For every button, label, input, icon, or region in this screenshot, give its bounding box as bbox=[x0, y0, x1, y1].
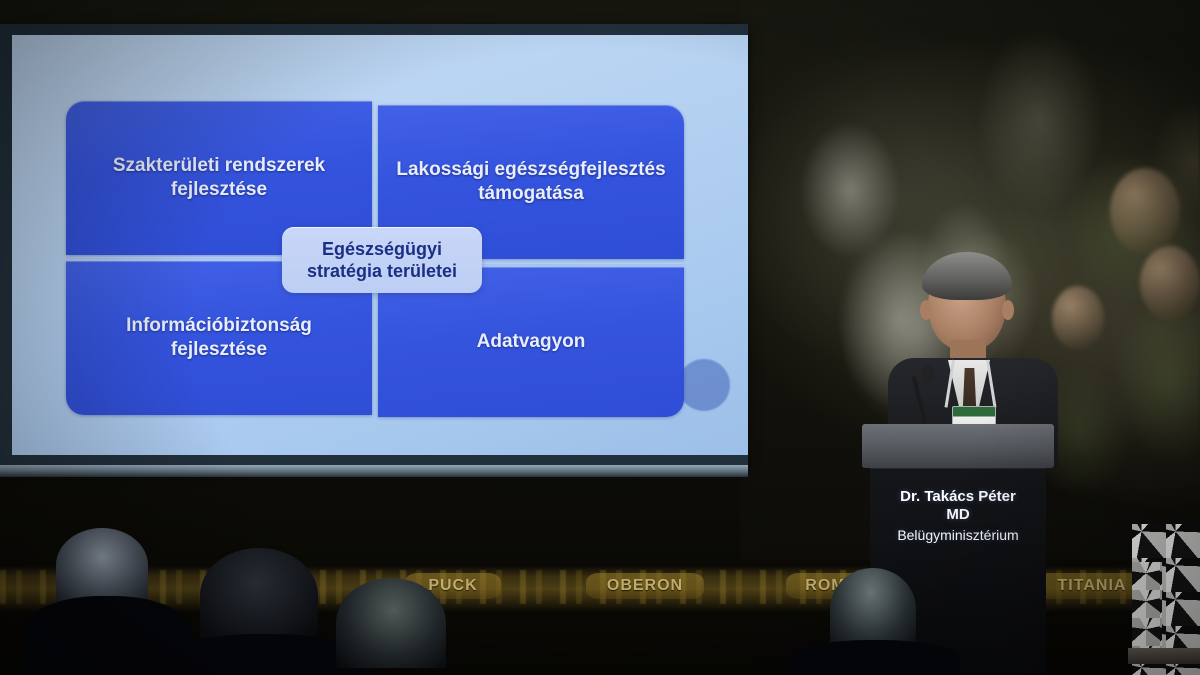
frieze-name-oberon: OBERON bbox=[586, 573, 704, 599]
center-label-line2: stratégia területei bbox=[307, 261, 457, 281]
audience-shoulders bbox=[790, 640, 960, 675]
speaker-ear bbox=[1002, 300, 1014, 320]
center-label-line1: Egészségügyi bbox=[322, 239, 442, 259]
microphone-icon bbox=[922, 366, 935, 381]
speaker-hair bbox=[922, 252, 1012, 300]
speaker-ear bbox=[920, 300, 932, 320]
audience-head bbox=[830, 568, 916, 650]
armchair-base bbox=[1128, 648, 1200, 664]
patterned-armchair-arm bbox=[1132, 562, 1162, 652]
quadrant-br-line1: Adatvagyon bbox=[477, 330, 586, 354]
podium-speaker-name: Dr. Takács Péter bbox=[900, 488, 1016, 505]
conference-photo-scene: PUCK OBERON ROMEO TITANIA Szakterületi r… bbox=[0, 0, 1200, 675]
audience-head bbox=[336, 578, 446, 668]
screen-bottom-rail bbox=[0, 465, 748, 477]
audience-head bbox=[200, 548, 318, 642]
quadrant-tr-line1: Lakossági egészségfejlesztés bbox=[396, 159, 665, 180]
projection-screen: Szakterületi rendszerek fejlesztése Lako… bbox=[0, 24, 748, 468]
quadrant-tl-line1: Szakterületi rendszerek bbox=[113, 155, 325, 176]
quadrant-tl-line2: fejlesztése bbox=[171, 179, 267, 200]
quadrant-bl-line1: Információbiztonság bbox=[126, 315, 312, 336]
quadrant-bl-line2: fejlesztése bbox=[171, 339, 267, 360]
center-label-badge: Egészségügyi stratégia területei bbox=[282, 227, 482, 293]
tapestry-cherub-icon bbox=[1140, 246, 1200, 320]
quadrant-tr-line2: támogatása bbox=[478, 183, 584, 204]
podium-organization: Belügyminisztérium bbox=[870, 527, 1046, 544]
podium-nameplate: Dr. Takács Péter MD Belügyminisztérium bbox=[870, 488, 1046, 544]
slide-surface: Szakterületi rendszerek fejlesztése Lako… bbox=[12, 35, 748, 455]
audience-head bbox=[56, 528, 148, 602]
podium-top-surface bbox=[862, 424, 1054, 468]
podium-speaker-title: MD bbox=[946, 506, 969, 523]
tapestry-cherub-icon bbox=[1110, 168, 1180, 254]
quadrant-diagram: Szakterületi rendszerek fejlesztése Lako… bbox=[66, 101, 694, 421]
